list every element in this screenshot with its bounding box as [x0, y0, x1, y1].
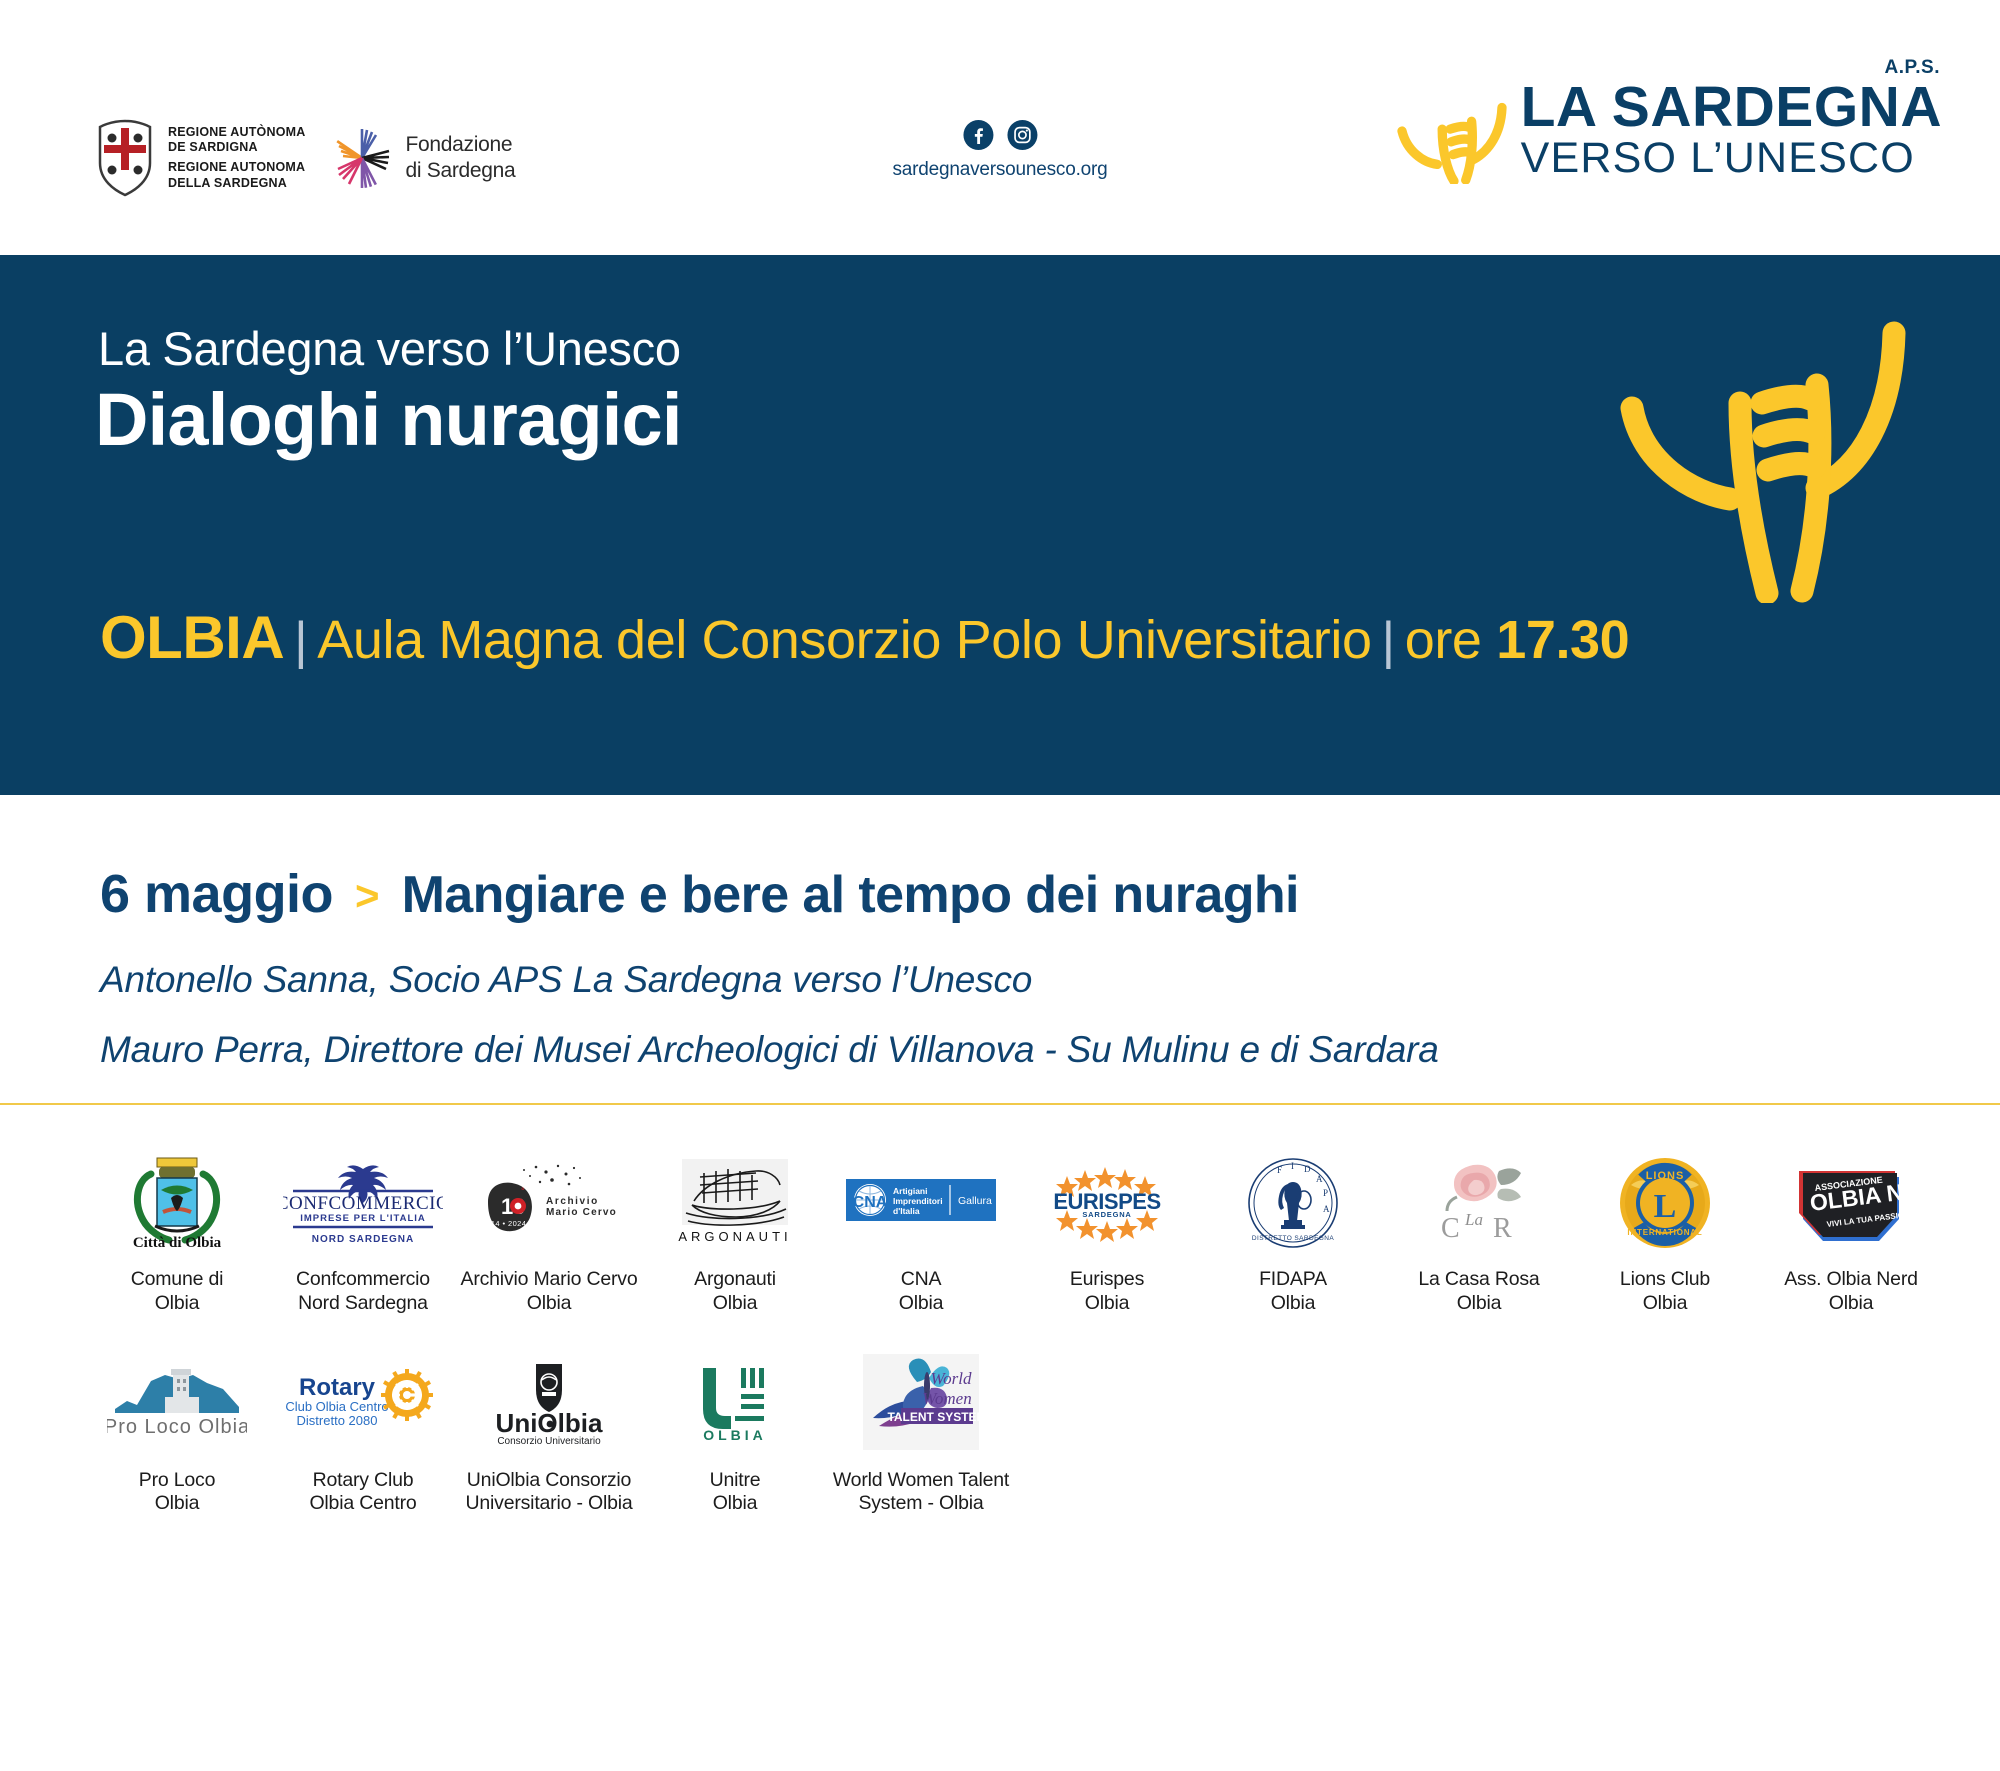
sponsor-rotary-club: Rotary Club Olbia Centro Distretto 2080: [270, 1350, 456, 1517]
pro-loco-olbia-logo: Pro Loco Olbia: [107, 1350, 247, 1458]
uniolbia-logo-sub1: Consorzio Universitario: [497, 1436, 601, 1447]
poster-root: REGIONE AUTÒNOMA DE SARDIGNA REGIONE AUT…: [0, 0, 2000, 1771]
fondazione-di-sardegna-logo: Fondazione di Sardegna: [331, 127, 515, 189]
uniolbia-shield-icon: UniOlbia Consorzio Universitario: [476, 1360, 622, 1448]
rose-icon: C R La: [1421, 1155, 1537, 1251]
sponsor-label-line-1: Archivio Mario Cervo: [461, 1268, 638, 1290]
confcommercio-eagle-icon: CONFCOMMERCIO IMPRESE PER L'ITALIA NORD …: [283, 1157, 443, 1249]
rotary-wheel-icon: Rotary Club Olbia Centro Distretto 2080: [285, 1369, 441, 1439]
confcommercio-logo-text: CONFCOMMERCIO: [283, 1193, 443, 1214]
sponsor-la-casa-rosa: C R La La Casa Rosa Olbia: [1386, 1149, 1572, 1316]
event-speaker-2: Mauro Perra, Direttore dei Musei Archeol…: [100, 1029, 2000, 1071]
sponsor-uniolbia: UniOlbia Consorzio Universitario UniOlbi…: [456, 1350, 642, 1517]
top-bar: REGIONE AUTÒNOMA DE SARDIGNA REGIONE AUT…: [0, 0, 2000, 255]
cna-sub-1: Artigiani: [893, 1186, 927, 1196]
sponsor-label-line-1: FIDAPA: [1259, 1268, 1327, 1290]
sponsor-fidapa: FID APA DISTRETTO SARDEGNA: [1200, 1149, 1386, 1316]
regione-sardegna-wordmark: REGIONE AUTÒNOMA DE SARDIGNA REGIONE AUT…: [168, 125, 305, 192]
sponsor-label-line-2: Olbia: [461, 1292, 638, 1316]
sponsor-world-women-talent-system: World Women TALENT SYSTEM World Women Ta…: [828, 1350, 1014, 1517]
regione-sardegna-logo: REGIONE AUTÒNOMA DE SARDIGNA REGIONE AUT…: [92, 118, 305, 198]
fidapa-logo: FID APA DISTRETTO SARDEGNA: [1246, 1149, 1340, 1257]
pro-loco-logo-text: Pro Loco Olbia: [107, 1416, 247, 1438]
unitre-olbia-logo: OLBIA: [689, 1350, 781, 1458]
sponsor-label: UniOlbia Consorzio Universitario - Olbia: [465, 1469, 632, 1517]
sponsor-label-line-2: Olbia: [1070, 1292, 1144, 1316]
confcommercio-logo: CONFCOMMERCIO IMPRESE PER L'ITALIA NORD …: [283, 1149, 443, 1257]
olbia-nerd-logo: ASSOCIAZIONE OLBIA NERD VIVI LA TUA PASS…: [1793, 1149, 1909, 1257]
wwts-word-world: World: [931, 1369, 972, 1388]
sponsor-label: Comune di Olbia: [131, 1268, 224, 1316]
fondazione-line-1: Fondazione: [405, 132, 515, 158]
archivio-logo-sub1: 2014 • 2024: [482, 1219, 527, 1228]
svg-text:A: A: [1316, 1174, 1323, 1184]
olbia-coat-of-arms-icon: Città di Olbia: [121, 1154, 233, 1252]
svg-text:P: P: [1323, 1188, 1328, 1198]
sponsor-label-line-2: Olbia Centro: [309, 1492, 416, 1516]
unitre-u-icon: OLBIA: [689, 1360, 781, 1448]
sponsor-label: World Women Talent System - Olbia: [833, 1469, 1009, 1517]
archivio-anniversary-icon: 10 ° 2014 • 2024 Archivio Mario Cervo: [474, 1158, 624, 1248]
cna-sub-3: d'Italia: [893, 1206, 920, 1216]
cna-sub-2: Imprenditori: [893, 1196, 943, 1206]
la-casa-rosa-letter-c: C: [1441, 1213, 1460, 1244]
sponsor-label: Pro Loco Olbia: [139, 1469, 215, 1517]
banner-venue: Aula Magna del Consorzio Polo Universita…: [317, 610, 1371, 670]
la-casa-rosa-logo: C R La: [1421, 1149, 1537, 1257]
sponsor-label-line-1: UniOlbia Consorzio: [467, 1469, 631, 1491]
cna-icon: CNA Artigiani Imprenditori d'Italia Gall…: [846, 1179, 996, 1227]
banner-nuraghe-bull-horns-icon: [1612, 303, 1912, 603]
social-icons: [892, 120, 1107, 150]
la-casa-rosa-letter-la: La: [1464, 1210, 1483, 1229]
sponsor-label-line-2: Olbia: [131, 1292, 224, 1316]
butterfly-icon: World Women TALENT SYSTEM: [855, 1352, 987, 1456]
wwts-word-women: Women: [922, 1389, 971, 1408]
sponsor-unitre: OLBIA Unitre Olbia: [642, 1350, 828, 1517]
archivio-logo-sub2a: Archivio: [546, 1196, 599, 1207]
archivio-degree: °: [521, 1186, 525, 1196]
brand-aps-label: A.P.S.: [1885, 57, 1940, 79]
event-section: 6 maggio > Mangiare e bere al tempo dei …: [0, 795, 2000, 1105]
sponsor-label-line-1: Pro Loco: [139, 1469, 215, 1491]
sponsor-confcommercio: CONFCOMMERCIO IMPRESE PER L'ITALIA NORD …: [270, 1149, 456, 1316]
banner-city: OLBIA: [100, 604, 284, 671]
sponsor-label-line-2: Olbia: [899, 1292, 944, 1316]
wwts-logo-sub1: TALENT SYSTEM: [887, 1410, 986, 1424]
sponsor-label-line-2: Olbia: [1784, 1292, 1918, 1316]
sponsor-label: Archivio Mario Cervo Olbia: [461, 1268, 638, 1316]
eurispes-logo-sub1: SARDEGNA: [1082, 1210, 1131, 1219]
sponsor-label-line-2: Olbia: [1259, 1292, 1327, 1316]
sponsor-label: Unitre Olbia: [710, 1469, 761, 1517]
confcommercio-logo-sub2: NORD SARDEGNA: [312, 1234, 414, 1245]
argonauti-ship-icon: ARGONAUTI: [670, 1155, 800, 1251]
sponsor-eurispes: EURISPES SARDEGNA Eurispes Olbia: [1014, 1149, 1200, 1316]
sponsor-label: Eurispes Olbia: [1070, 1268, 1144, 1316]
sponsor-label-line-1: Argonauti: [694, 1268, 776, 1290]
rotary-logo-sub1: Club Olbia Centro: [285, 1399, 388, 1414]
argonauti-logo: ARGONAUTI: [670, 1149, 800, 1257]
sponsor-lions-club: L LIONS INTERNATIONAL Lions Club Olbia: [1572, 1149, 1758, 1316]
social-block: sardegnaversounesco.org: [892, 120, 1107, 181]
chevron-right-icon: >: [355, 872, 380, 920]
svg-text:F: F: [1277, 1165, 1282, 1175]
sponsor-row-2: Pro Loco Olbia Pro Loco Olbia Rotary Clu…: [0, 1350, 2000, 1517]
banner-separator-1: |: [284, 612, 317, 670]
crest-line-3: REGIONE AUTONOMA: [168, 160, 305, 176]
pro-loco-skyline-icon: Pro Loco Olbia: [107, 1367, 247, 1441]
sponsor-label: CNA Olbia: [899, 1268, 944, 1316]
fondazione-wordmark: Fondazione di Sardegna: [405, 132, 515, 183]
fondazione-line-2: di Sardegna: [405, 158, 515, 184]
banner-venue-line: OLBIA|Aula Magna del Consorzio Polo Univ…: [100, 603, 1629, 672]
sponsor-label-line-1: Confcommercio: [296, 1268, 430, 1290]
rotary-logo-text: Rotary: [299, 1374, 376, 1401]
main-banner: La Sardegna verso l’Unesco Dialoghi nura…: [0, 255, 2000, 795]
eurispes-logo: EURISPES SARDEGNA: [1041, 1149, 1173, 1257]
crest-line-4: DELLA SARDEGNA: [168, 176, 305, 192]
sponsor-archivio-mario-cervo: 10 ° 2014 • 2024 Archivio Mario Cervo Ar…: [456, 1149, 642, 1316]
event-topic: Mangiare e bere al tempo dei nuraghi: [402, 865, 1299, 925]
lions-logo-letter: L: [1654, 1188, 1677, 1225]
archivio-logo-sub2b: Mario Cervo: [546, 1207, 617, 1218]
cna-logo: CNA Artigiani Imprenditori d'Italia Gall…: [846, 1149, 996, 1257]
brand-wordmark: A.P.S. LA SARDEGNA VERSO L’UNESCO: [1521, 80, 1942, 184]
sponsor-label-line-1: Eurispes: [1070, 1268, 1144, 1290]
nuraghe-bull-horns-icon: [1393, 86, 1511, 184]
sponsor-label-line-1: World Women Talent: [833, 1469, 1009, 1491]
world-women-talent-system-logo: World Women TALENT SYSTEM: [855, 1350, 987, 1458]
svg-text:A: A: [1323, 1204, 1330, 1214]
la-casa-rosa-letter-r: R: [1493, 1213, 1512, 1244]
banner-time-label: ore: [1405, 610, 1482, 670]
sponsors-section: Città di Olbia Comune di Olbia CONFCOMME…: [0, 1105, 2000, 1516]
lions-club-logo: L LIONS INTERNATIONAL: [1617, 1149, 1713, 1257]
comune-di-olbia-logo: Città di Olbia: [121, 1149, 233, 1257]
sponsor-label-line-2: System - Olbia: [833, 1492, 1009, 1516]
banner-separator-2: |: [1372, 612, 1405, 670]
facebook-icon[interactable]: [963, 120, 993, 150]
sponsor-row-1: Città di Olbia Comune di Olbia CONFCOMME…: [0, 1149, 2000, 1316]
sponsor-label-line-2: Universitario - Olbia: [465, 1492, 632, 1516]
sponsor-label-line-2: Olbia: [694, 1292, 776, 1316]
sponsor-label: FIDAPA Olbia: [1259, 1268, 1327, 1316]
sponsor-argonauti: ARGONAUTI Argonauti Olbia: [642, 1149, 828, 1316]
rotary-logo-sub2: Distretto 2080: [297, 1413, 378, 1428]
fidapa-motto: DISTRETTO SARDEGNA: [1252, 1235, 1334, 1242]
confcommercio-logo-sub1: IMPRESE PER L'ITALIA: [300, 1213, 426, 1224]
lions-logo-text: LIONS: [1646, 1170, 1685, 1182]
sponsor-label-line-2: Olbia: [1418, 1292, 1539, 1316]
crest-line-2: DE SARDIGNA: [168, 140, 305, 156]
banner-title: Dialoghi nuragici: [95, 377, 682, 462]
sponsor-olbia-nerd: ASSOCIAZIONE OLBIA NERD VIVI LA TUA PASS…: [1758, 1149, 1944, 1316]
fondazione-mark-icon: [331, 127, 393, 189]
comune-logo-text: Città di Olbia: [133, 1235, 222, 1251]
banner-kicker: La Sardegna verso l’Unesco: [98, 321, 681, 376]
sponsor-label-line-1: Lions Club: [1620, 1268, 1710, 1290]
eurispes-stars-icon: EURISPES SARDEGNA: [1041, 1164, 1173, 1242]
svg-text:D: D: [1304, 1164, 1311, 1174]
sponsor-cna: CNA Artigiani Imprenditori d'Italia Gall…: [828, 1149, 1014, 1316]
event-date: 6 maggio: [100, 863, 333, 925]
brand-line-1: LA SARDEGNA: [1521, 80, 1942, 136]
sponsor-label-line-2: Nord Sardegna: [296, 1292, 430, 1316]
uniolbia-logo: UniOlbia Consorzio Universitario: [476, 1350, 622, 1458]
event-speaker-1: Antonello Sanna, Socio APS La Sardegna v…: [100, 959, 2000, 1001]
sponsor-label-line-1: Unitre: [710, 1469, 761, 1491]
sponsor-label: Lions Club Olbia: [1620, 1268, 1710, 1316]
svg-text:I: I: [1291, 1161, 1294, 1171]
sponsor-label-line-1: Ass. Olbia Nerd: [1784, 1268, 1918, 1290]
brand-line-2: VERSO L’UNESCO: [1521, 137, 1942, 180]
sponsor-label-line-1: CNA: [901, 1268, 942, 1290]
sponsor-label-line-2: Olbia: [710, 1492, 761, 1516]
sponsor-label-line-2: Olbia: [1620, 1292, 1710, 1316]
sponsor-label-line-1: Comune di: [131, 1268, 224, 1290]
section-divider: [0, 1103, 2000, 1105]
sponsor-label-line-1: Rotary Club: [313, 1469, 414, 1491]
sponsor-comune-di-olbia: Città di Olbia Comune di Olbia: [84, 1149, 270, 1316]
cna-logo-sub2: Gallura: [958, 1195, 992, 1207]
sponsor-label: Ass. Olbia Nerd Olbia: [1784, 1268, 1918, 1316]
cna-logo-text: CNA: [853, 1194, 888, 1211]
lions-international-icon: L LIONS INTERNATIONAL: [1617, 1155, 1713, 1251]
sardinia-crest-icon: [92, 118, 158, 198]
instagram-icon[interactable]: [1007, 120, 1037, 150]
sponsor-label-line-1: La Casa Rosa: [1418, 1268, 1539, 1290]
sponsor-pro-loco: Pro Loco Olbia Pro Loco Olbia: [84, 1350, 270, 1517]
crest-line-1: REGIONE AUTÒNOMA: [168, 125, 305, 141]
lions-logo-sub1: INTERNATIONAL: [1627, 1228, 1702, 1237]
sponsor-label: La Casa Rosa Olbia: [1418, 1268, 1539, 1316]
argonauti-logo-text: ARGONAUTI: [678, 1229, 791, 1244]
sponsor-label: Argonauti Olbia: [694, 1268, 776, 1316]
sponsor-label: Confcommercio Nord Sardegna: [296, 1268, 430, 1316]
olbia-nerd-hexagon-icon: ASSOCIAZIONE OLBIA NERD VIVI LA TUA PASS…: [1793, 1157, 1909, 1249]
banner-time: 17.30: [1496, 610, 1629, 670]
event-headline: 6 maggio > Mangiare e bere al tempo dei …: [100, 863, 2000, 925]
sponsor-label-line-2: Olbia: [139, 1492, 215, 1516]
archivio-mario-cervo-logo: 10 ° 2014 • 2024 Archivio Mario Cervo: [474, 1149, 624, 1257]
website-url[interactable]: sardegnaversounesco.org: [892, 159, 1107, 181]
sponsor-label: Rotary Club Olbia Centro: [309, 1469, 416, 1517]
institutional-logos: REGIONE AUTÒNOMA DE SARDIGNA REGIONE AUT…: [92, 118, 515, 198]
rotary-club-logo: Rotary Club Olbia Centro Distretto 2080: [285, 1350, 441, 1458]
unitre-logo-sub1: OLBIA: [703, 1427, 767, 1443]
brand-logo: A.P.S. LA SARDEGNA VERSO L’UNESCO: [1393, 80, 1942, 184]
fidapa-seal-icon: FID APA DISTRETTO SARDEGNA: [1246, 1156, 1340, 1250]
